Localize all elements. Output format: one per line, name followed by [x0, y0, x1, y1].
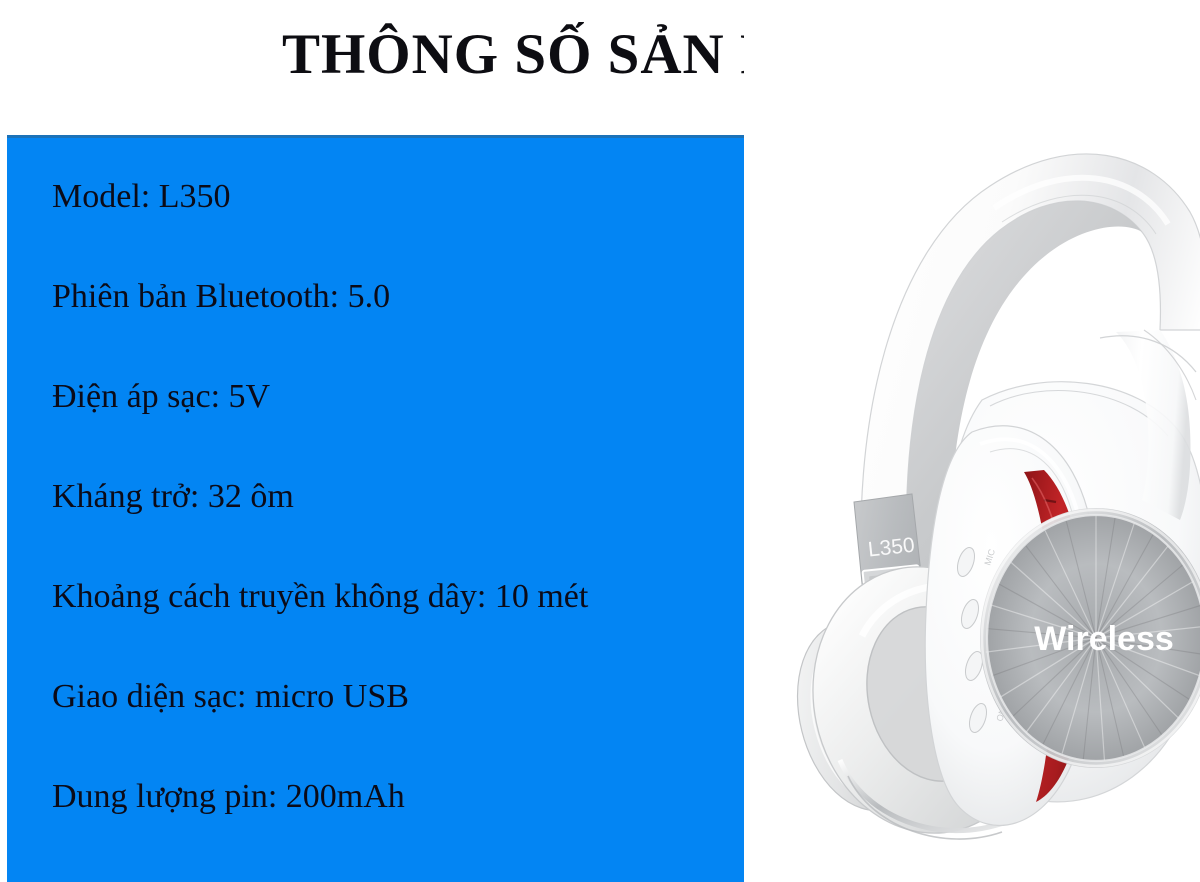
product-image: L350 L — [744, 0, 1200, 882]
headphones-illustration: L350 L — [744, 0, 1200, 882]
spec-row-wireless-range: Khoảng cách truyền không dây: 10 mét — [52, 580, 736, 680]
spec-row-model: Model: L350 — [52, 180, 736, 280]
headband-model-label: L350 — [867, 534, 916, 562]
spec-row-charge-interface: Giao diện sạc: micro USB — [52, 680, 736, 780]
spec-row-charge-voltage: Điện áp sạc: 5V — [52, 380, 736, 480]
specification-list: Model: L350 Phiên bản Bluetooth: 5.0 Điệ… — [52, 180, 736, 880]
spec-row-impedance: Kháng trở: 32 ôm — [52, 480, 736, 580]
wireless-label: Wireless — [1034, 620, 1174, 658]
specification-panel: Model: L350 Phiên bản Bluetooth: 5.0 Điệ… — [7, 135, 744, 882]
spec-row-bluetooth: Phiên bản Bluetooth: 5.0 — [52, 280, 736, 380]
spec-row-battery: Dung lượng pin: 200mAh — [52, 780, 736, 880]
